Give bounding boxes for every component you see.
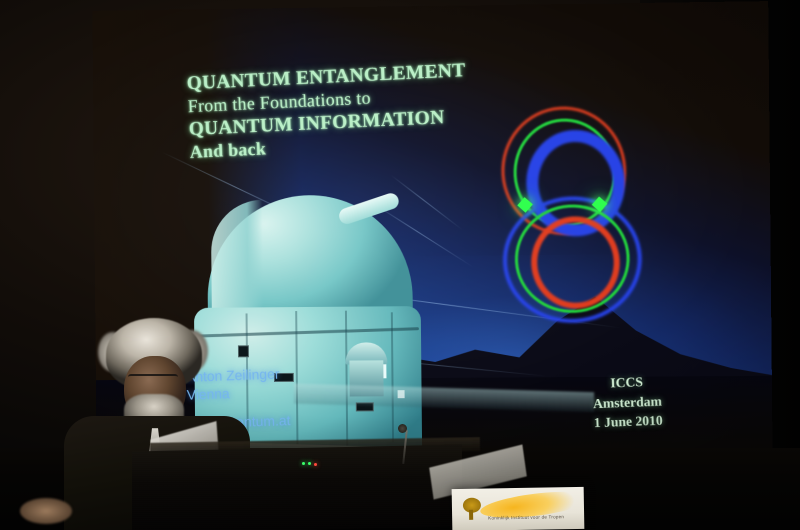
venue-sign: Koninklijk Instituut voor de Tropen <box>452 487 585 530</box>
slide-title-block: QUANTUM ENTANGLEMENT From the Foundation… <box>186 56 549 162</box>
lectern <box>132 445 462 530</box>
dome-slit <box>211 200 264 320</box>
status-led-icon <box>302 462 305 465</box>
slide-conference-block: ICCS Amsterdam 1 June 2010 <box>541 369 715 434</box>
tree-logo-icon <box>461 498 483 522</box>
microphone-head-icon <box>398 424 407 433</box>
tree-trunk <box>469 510 473 520</box>
sign-text: Koninklijk Instituut voor de Tropen <box>488 514 564 520</box>
status-led-icon <box>308 462 311 465</box>
screenshot-root: QUANTUM ENTANGLEMENT From the Foundation… <box>0 0 800 530</box>
status-led-icon <box>314 463 317 466</box>
speaker-hand <box>20 498 72 524</box>
glasses-icon <box>128 374 178 386</box>
